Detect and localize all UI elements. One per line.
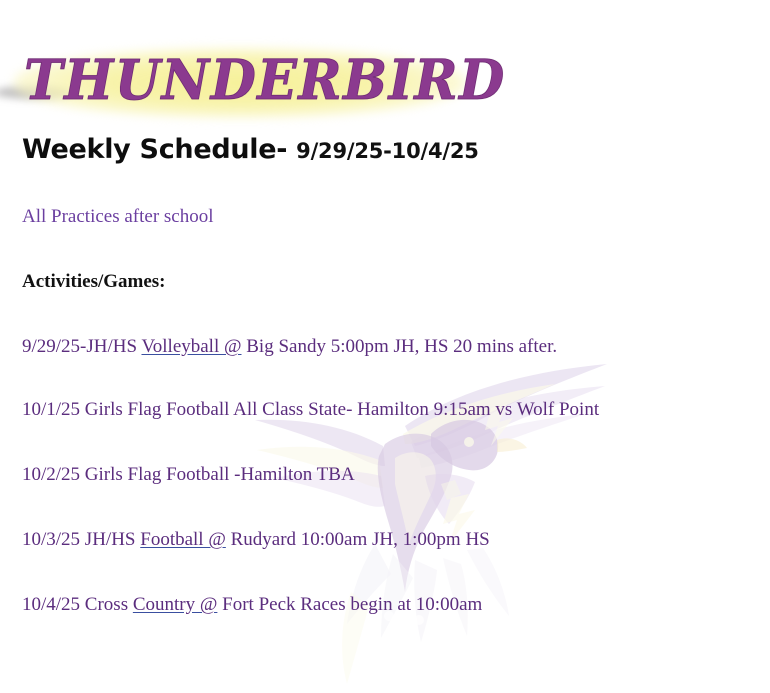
- schedule-content: Weekly Schedule- 9/29/25-10/4/25 All Pra…: [0, 0, 770, 677]
- event-link[interactable]: Country @: [133, 594, 218, 615]
- event-text-after: Big Sandy 5:00pm JH, HS 20 mins after.: [242, 336, 558, 357]
- event-text-after: Fort Peck Races begin at 10:00am: [217, 594, 482, 615]
- weekly-schedule-label: Weekly Schedule-: [22, 134, 287, 165]
- event-text-before: 10/2/25 Girls Flag Football -Hamilton TB…: [22, 464, 355, 485]
- event-text-before: 10/1/25 Girls Flag Football All Class St…: [22, 399, 599, 420]
- event-text-after: Rudyard 10:00am JH, 1:00pm HS: [226, 529, 490, 550]
- event-link[interactable]: Volleyball @: [141, 336, 241, 357]
- event-line: 10/1/25 Girls Flag Football All Class St…: [22, 399, 599, 421]
- activities-games-label: Activities/Games:: [22, 271, 166, 293]
- weekly-schedule-heading: Weekly Schedule- 9/29/25-10/4/25: [22, 134, 479, 165]
- event-link[interactable]: Football @: [140, 529, 226, 550]
- event-text-before: 10/4/25 Cross: [22, 594, 133, 615]
- event-line: 10/4/25 Cross Country @ Fort Peck Races …: [22, 594, 482, 616]
- event-text-before: 10/3/25 JH/HS: [22, 529, 140, 550]
- schedule-date-range: 9/29/25-10/4/25: [296, 139, 479, 163]
- event-line: 10/2/25 Girls Flag Football -Hamilton TB…: [22, 464, 355, 486]
- event-line: 9/29/25-JH/HS Volleyball @ Big Sandy 5:0…: [22, 336, 557, 358]
- event-line: 10/3/25 JH/HS Football @ Rudyard 10:00am…: [22, 529, 490, 551]
- practices-note: All Practices after school: [22, 206, 214, 228]
- event-text-before: 9/29/25-JH/HS: [22, 336, 141, 357]
